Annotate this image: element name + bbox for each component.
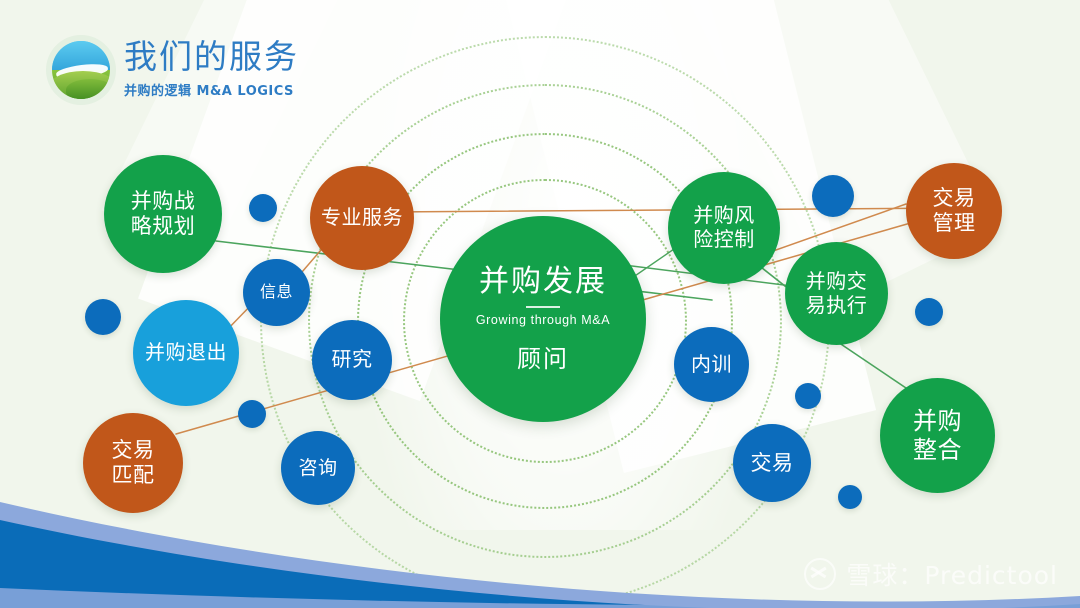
watermark: 雪球：Predictool (804, 556, 1058, 592)
node-label: 并购风 险控制 (693, 204, 755, 251)
xueqiu-logo-icon (804, 558, 836, 590)
node-label: 专业服务 (321, 206, 403, 230)
hub-subtitle: Growing through M&A (476, 313, 610, 327)
node-exit[interactable]: 并购退出 (133, 300, 239, 406)
node-info[interactable]: 信息 (243, 259, 310, 326)
node-label: 交易 管理 (933, 186, 976, 236)
landscape-circle-logo-icon (52, 41, 110, 99)
brand-logo: 我们的服务 并购的逻辑 M&A LOGICS (52, 40, 299, 99)
hub-title: 并购发展 (479, 265, 607, 298)
hub-footer: 顾问 (517, 339, 569, 374)
node-execution[interactable]: 并购交 易执行 (785, 242, 888, 345)
node-label: 并购退出 (145, 341, 227, 365)
node-label: 并购战 略规划 (131, 189, 196, 239)
watermark-text: 雪球：Predictool (846, 556, 1058, 592)
node-research[interactable]: 研究 (312, 320, 392, 400)
slide-canvas: 我们的服务 并购的逻辑 M&A LOGICS 并购战 略规划专业服务信息并购退出… (0, 0, 1080, 608)
accent-dot-dot-6 (795, 383, 821, 409)
accent-dot-dot-3 (238, 400, 266, 428)
node-pro-service[interactable]: 专业服务 (310, 166, 414, 270)
node-trade-mgmt[interactable]: 交易 管理 (906, 163, 1002, 259)
node-label: 并购交 易执行 (806, 270, 868, 317)
node-label: 并购 整合 (913, 407, 962, 464)
accent-dot-dot-5 (915, 298, 943, 326)
node-training[interactable]: 内训 (674, 327, 749, 402)
node-label: 研究 (332, 348, 373, 372)
node-label: 内训 (691, 353, 732, 377)
node-risk[interactable]: 并购风 险控制 (668, 172, 780, 284)
logo-subtitle: 并购的逻辑 M&A LOGICS (124, 80, 299, 99)
hub-divider (526, 306, 560, 308)
accent-dot-dot-1 (249, 194, 277, 222)
accent-dot-dot-2 (85, 299, 121, 335)
node-label: 信息 (260, 283, 293, 302)
logo-title: 我们的服务 (124, 40, 299, 73)
accent-dot-dot-4 (812, 175, 854, 217)
center-hub[interactable]: 并购发展 Growing through M&A 顾问 (440, 216, 646, 422)
node-strategy[interactable]: 并购战 略规划 (104, 155, 222, 273)
